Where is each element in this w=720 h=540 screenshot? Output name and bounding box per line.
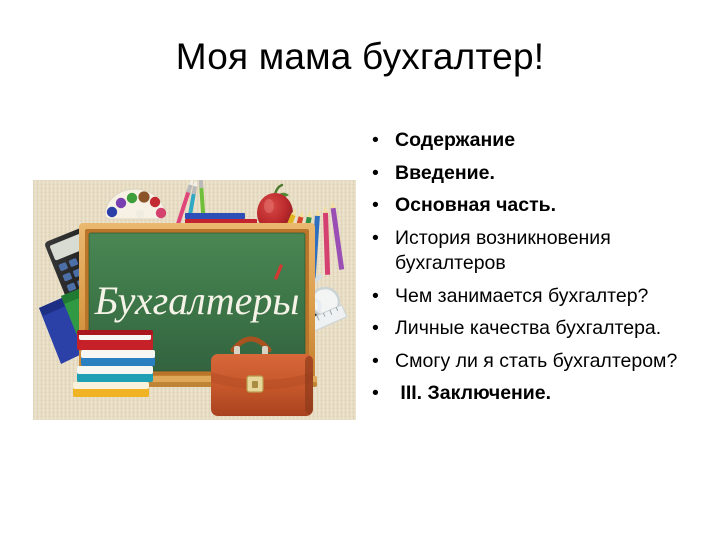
page-title: Моя мама бухгалтер!: [36, 34, 684, 80]
list-item[interactable]: • III. Заключение.: [366, 381, 696, 407]
list-item-label: Введение.: [395, 162, 495, 184]
list-item-label: История возникновения бухгалтеров: [395, 227, 616, 275]
list-item-label: Чем занимается бухгалтер?: [395, 285, 648, 307]
bullet-icon: •: [372, 349, 379, 375]
bullet-icon: •: [372, 226, 379, 252]
list-item[interactable]: • Содержание: [366, 128, 696, 154]
board-text: Бухгалтеры: [94, 278, 300, 323]
list-item-label: Основная часть.: [395, 194, 556, 216]
bullet-icon: •: [372, 284, 379, 310]
bullet-icon: •: [372, 193, 379, 219]
list-item[interactable]: • Основная часть.: [366, 193, 696, 219]
bullet-icon: •: [372, 316, 379, 342]
chalkboard-image: Бухгалтеры: [33, 180, 356, 420]
presentation-slide: Моя мама бухгалтер!: [0, 0, 720, 540]
book-stack-icon: [73, 330, 155, 397]
list-item-label: III. Заключение.: [395, 382, 551, 404]
list-item[interactable]: • Личные качества бухгалтера.: [366, 316, 696, 342]
list-item[interactable]: • История возникновения бухгалтеров: [366, 226, 696, 277]
list-item[interactable]: • Введение.: [366, 161, 696, 187]
list-item[interactable]: • Смогу ли я стать бухгалтером?: [366, 349, 696, 375]
list-item-label: Смогу ли я стать бухгалтером?: [395, 350, 677, 372]
chalkboard-illustration: Бухгалтеры: [33, 180, 356, 420]
bullet-icon: •: [372, 161, 379, 187]
bullet-icon: •: [372, 128, 379, 154]
list-item-label: Содержание: [395, 129, 515, 151]
content-bullet-list: • Содержание • Введение. • Основная част…: [366, 128, 696, 414]
list-item[interactable]: • Чем занимается бухгалтер?: [366, 284, 696, 310]
list-item-label: Личные качества бухгалтера.: [395, 317, 661, 339]
bullet-icon: •: [372, 381, 379, 407]
